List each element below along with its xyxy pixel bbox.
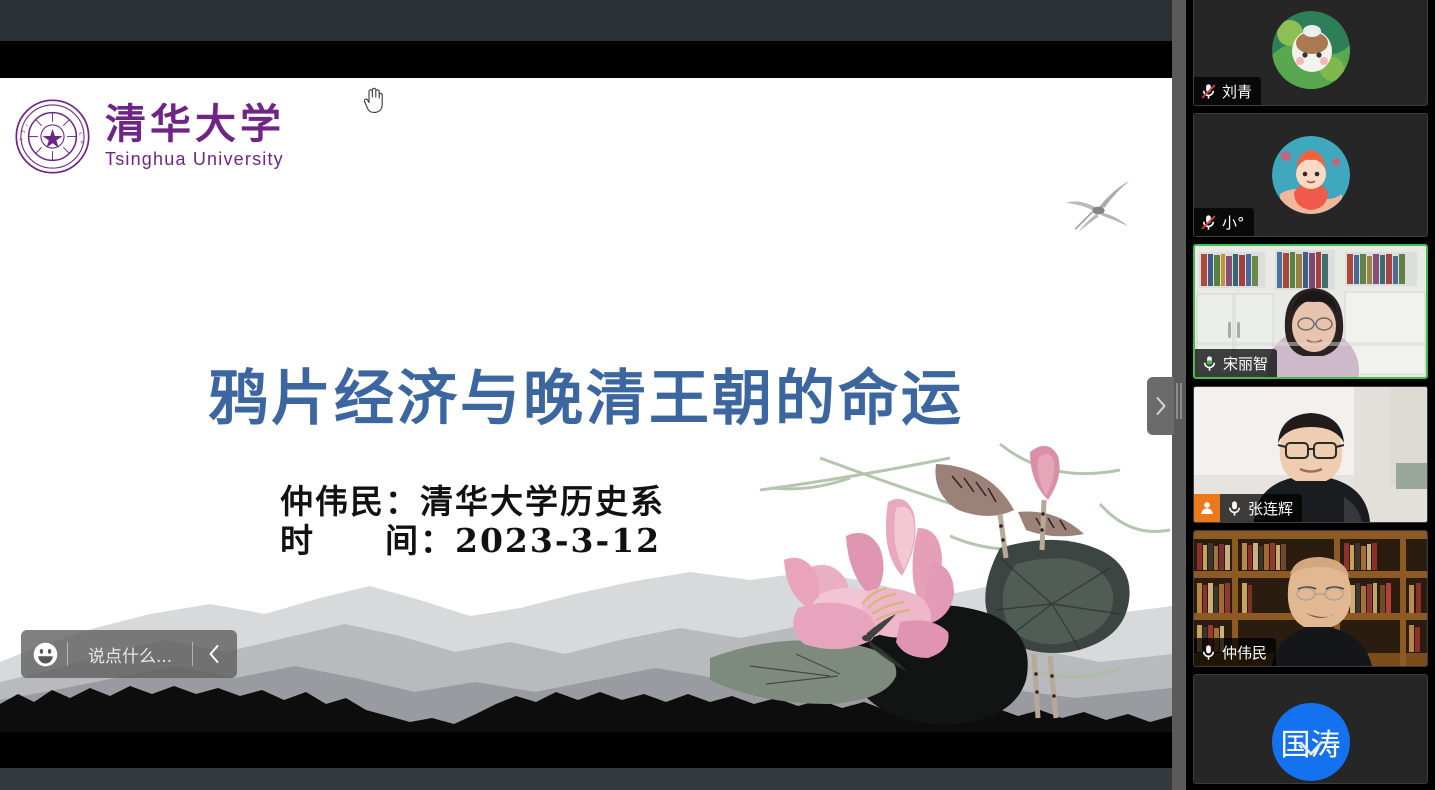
- slide-subtitle-date: 时 间：2023-3-12: [280, 521, 661, 561]
- participant-video-media: 仲伟民: [1194, 531, 1427, 666]
- avatar-initials-text: 国涛: [1272, 703, 1350, 781]
- meeting-screen: T S I E R 清华大学 Tsinghua University: [0, 0, 1435, 790]
- slide-title: 鸦片经济与晚清王朝的命运: [0, 350, 1172, 437]
- participant-name-strip: 宋丽智: [1195, 349, 1277, 377]
- participant-tile[interactable]: 宋丽智: [1193, 244, 1428, 379]
- participant-tile[interactable]: 国涛: [1193, 674, 1428, 784]
- chat-input-bar[interactable]: 说点什么...: [21, 630, 237, 678]
- participant-name-strip: 仲伟民: [1194, 638, 1276, 666]
- logo-english-name: Tsinghua University: [105, 149, 285, 170]
- participant-video-media: 宋丽智: [1195, 246, 1426, 377]
- participant-avatar-media: 刘青: [1194, 0, 1427, 105]
- vertical-drag-grip-icon[interactable]: [1175, 383, 1184, 419]
- tsinghua-logo: T S I E R 清华大学 Tsinghua University: [14, 98, 285, 175]
- chat-input[interactable]: 说点什么...: [72, 642, 188, 667]
- panel-expand-button[interactable]: [1147, 377, 1174, 435]
- logo-chinese-name: 清华大学: [105, 103, 285, 146]
- stage-top-bar: [0, 0, 1172, 41]
- mic-active-icon: [1195, 349, 1223, 377]
- mic-muted-icon: [1194, 208, 1222, 236]
- letterbox-top: [0, 41, 1172, 78]
- participant-name: 仲伟民: [1222, 642, 1267, 663]
- participant-name-strip: 张连辉: [1194, 494, 1302, 522]
- participant-video-media: 张连辉: [1194, 387, 1427, 522]
- lotus-ink-painting: [700, 418, 1172, 732]
- participant-avatar-media: 国涛: [1194, 675, 1427, 783]
- avatar-image-liuqing: [1272, 11, 1350, 89]
- participant-name: 小°: [1222, 212, 1245, 233]
- participant-tile[interactable]: 仲伟民: [1193, 530, 1428, 667]
- participant-tile[interactable]: 刘青: [1193, 0, 1428, 106]
- host-badge-icon: [1194, 494, 1220, 522]
- emoji-smiley-icon[interactable]: [27, 636, 63, 672]
- chat-divider-right: [192, 642, 193, 666]
- mic-muted-icon: [1194, 77, 1222, 105]
- chat-collapse-button[interactable]: [197, 636, 231, 672]
- stage-footer-bar: [0, 768, 1172, 790]
- shared-screen-stage[interactable]: T S I E R 清华大学 Tsinghua University: [0, 0, 1172, 790]
- avatar-initials-guotao: 国涛: [1272, 703, 1350, 781]
- participant-tile[interactable]: 张连辉: [1193, 386, 1428, 523]
- participant-name: 张连辉: [1248, 498, 1293, 519]
- participant-tile[interactable]: 小°: [1193, 113, 1428, 237]
- participant-avatar-media: 小°: [1194, 114, 1427, 236]
- tsinghua-seal-icon: T S I E R: [14, 98, 91, 175]
- slide-subtitle-presenter: 仲伟民：清华大学历史系: [280, 482, 665, 522]
- mic-active-icon: [1220, 494, 1248, 522]
- letterbox-bottom: [0, 732, 1172, 768]
- svg-text:R: R: [79, 140, 85, 144]
- avatar-image-xiao: [1272, 136, 1350, 214]
- participant-name-strip: 刘青: [1194, 77, 1261, 105]
- presentation-slide: T S I E R 清华大学 Tsinghua University: [0, 78, 1172, 732]
- participants-panel[interactable]: 刘青: [1186, 0, 1435, 790]
- mic-active-icon: [1194, 638, 1222, 666]
- participant-name: 刘青: [1222, 81, 1252, 102]
- participant-name: 宋丽智: [1223, 353, 1268, 374]
- dragonfly-icon: [1060, 178, 1140, 240]
- avatar: 国涛: [1194, 675, 1427, 783]
- chat-divider-left: [67, 642, 68, 666]
- svg-text:E: E: [78, 131, 84, 136]
- svg-text:I: I: [24, 123, 28, 127]
- participant-name-strip: 小°: [1194, 208, 1254, 236]
